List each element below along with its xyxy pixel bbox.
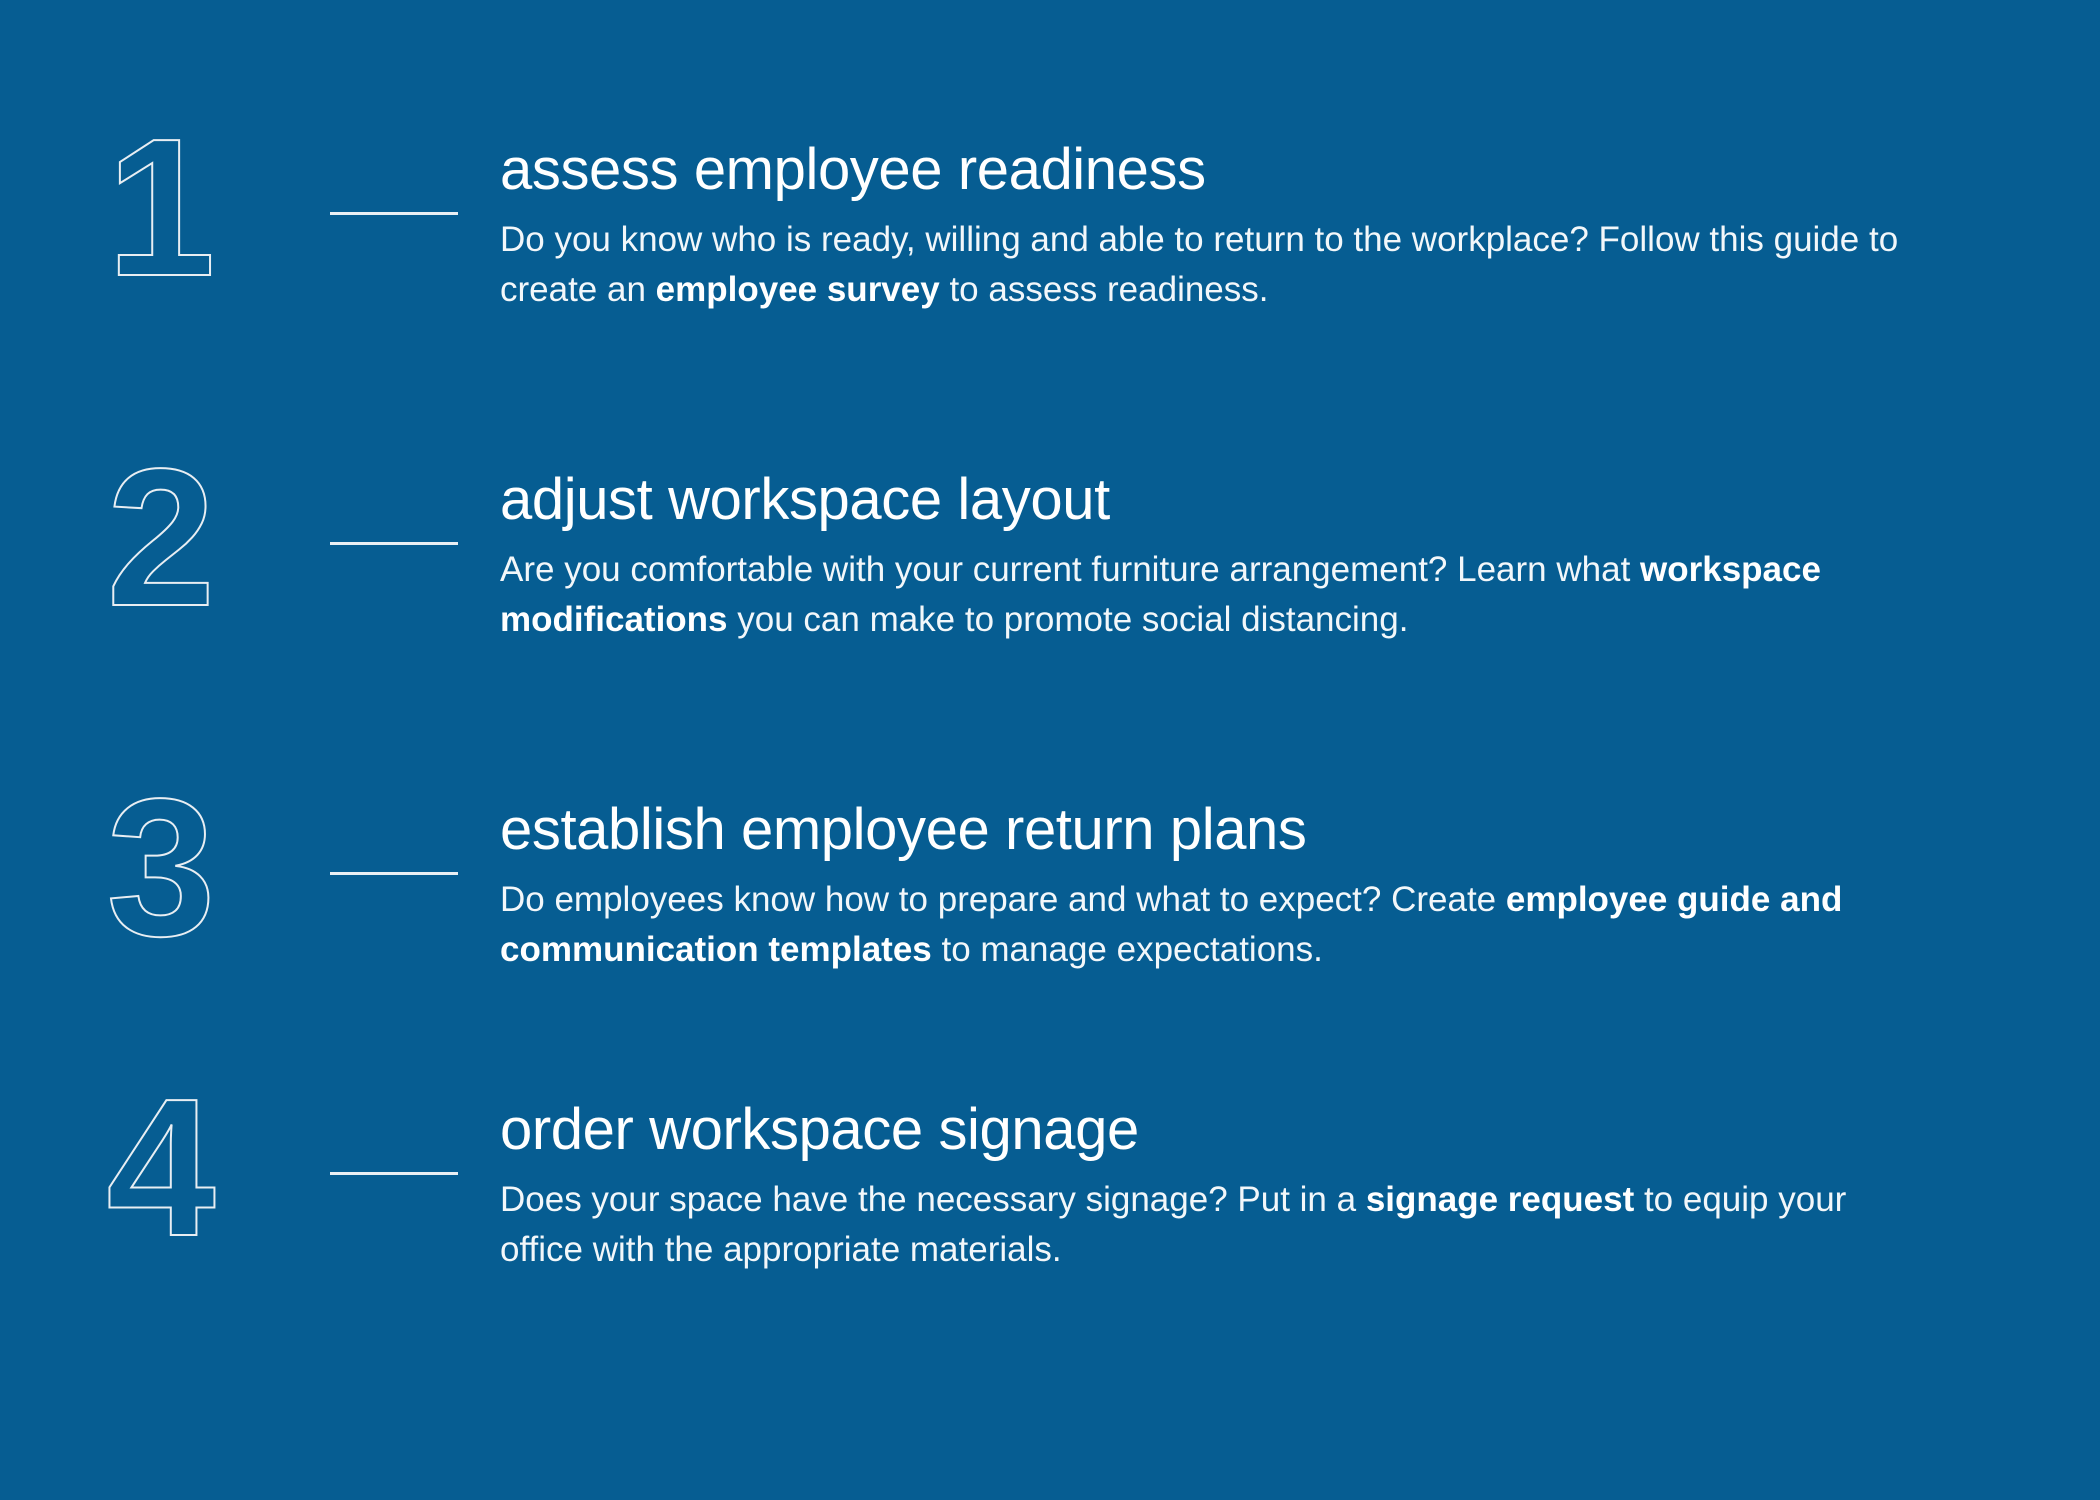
step-number-container: 4 bbox=[0, 1100, 320, 1300]
step-text-container: adjust workspace layout Are you comforta… bbox=[500, 470, 2100, 645]
step-body-4-highlight: signage request bbox=[1366, 1180, 1634, 1219]
step-number-container: 3 bbox=[0, 800, 320, 1000]
step-item: 4 order workspace signage Does your spac… bbox=[0, 1100, 2100, 1300]
step-body-4-before: Does your space have the necessary signa… bbox=[500, 1180, 1366, 1219]
step-heading-4: order workspace signage bbox=[500, 1100, 1980, 1159]
step-body-1-after: to assess readiness. bbox=[940, 270, 1269, 309]
step-body-1: Do you know who is ready, willing and ab… bbox=[500, 215, 1930, 314]
step-number-2: 2 bbox=[106, 448, 213, 628]
step-text-container: order workspace signage Does your space … bbox=[500, 1100, 2100, 1275]
step-rule-container bbox=[320, 470, 500, 670]
step-body-1-highlight: employee survey bbox=[656, 270, 940, 309]
step-text-container: assess employee readiness Do you know wh… bbox=[500, 140, 2100, 315]
step-heading-2: adjust workspace layout bbox=[500, 470, 1980, 529]
step-divider-rule bbox=[330, 1172, 458, 1175]
step-body-2: Are you comfortable with your current fu… bbox=[500, 545, 1930, 644]
step-body-3-before: Do employees know how to prepare and wha… bbox=[500, 880, 1506, 919]
step-number-1: 1 bbox=[106, 118, 213, 298]
step-item: 3 establish employee return plans Do emp… bbox=[0, 800, 2100, 1000]
step-number-container: 1 bbox=[0, 140, 320, 340]
step-item: 2 adjust workspace layout Are you comfor… bbox=[0, 470, 2100, 670]
step-body-4: Does your space have the necessary signa… bbox=[500, 1175, 1930, 1274]
step-rule-container bbox=[320, 1100, 500, 1300]
step-item: 1 assess employee readiness Do you know … bbox=[0, 140, 2100, 340]
step-body-2-after: you can make to promote social distancin… bbox=[728, 600, 1409, 639]
step-divider-rule bbox=[330, 212, 458, 215]
step-divider-rule bbox=[330, 872, 458, 875]
step-rule-container bbox=[320, 800, 500, 1000]
step-number-4: 4 bbox=[106, 1078, 213, 1258]
step-number-container: 2 bbox=[0, 470, 320, 670]
step-heading-3: establish employee return plans bbox=[500, 800, 1980, 859]
step-body-2-before: Are you comfortable with your current fu… bbox=[500, 550, 1640, 589]
step-body-3: Do employees know how to prepare and wha… bbox=[500, 875, 1930, 974]
step-body-3-after: to manage expectations. bbox=[932, 930, 1323, 969]
step-text-container: establish employee return plans Do emplo… bbox=[500, 800, 2100, 975]
step-number-3: 3 bbox=[106, 778, 213, 958]
step-divider-rule bbox=[330, 542, 458, 545]
step-rule-container bbox=[320, 140, 500, 340]
step-heading-1: assess employee readiness bbox=[500, 140, 1980, 199]
return-to-workplace-steps-infographic: 1 assess employee readiness Do you know … bbox=[0, 0, 2100, 1500]
